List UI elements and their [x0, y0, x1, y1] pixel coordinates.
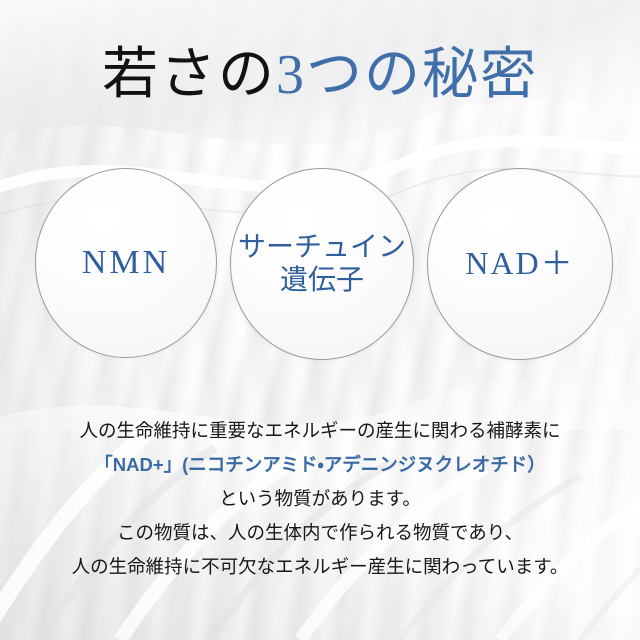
circle-nad-plus-label: NAD＋ [465, 245, 574, 283]
description-block: 人の生命維持に重要なエネルギーの産生に関わる補酵素に 「NAD+」(ニコチンアミ… [0, 414, 640, 584]
promo-banner: 若さの3つの秘密 NMN サーチュイン 遺伝子 NAD＋ 人の生命維持に重要なエ… [0, 0, 640, 640]
circle-sirtuin[interactable]: サーチュイン 遺伝子 [230, 168, 414, 360]
description-line-4: この物質は、人の生体内で作られる物質であり、 [0, 516, 640, 550]
description-line-3: という物質があります。 [0, 482, 640, 516]
description-line-5: 人の生命維持に不可欠なエネルギー産生に関わっています。 [0, 550, 640, 584]
description-line-2: 「NAD+」(ニコチンアミド・アデニンジヌクレオチド） [0, 448, 640, 482]
page-title: 若さの3つの秘密 [0, 46, 640, 105]
circle-sirtuin-label: サーチュイン 遺伝子 [238, 231, 406, 297]
key-terms-circle-row: NMN サーチュイン 遺伝子 NAD＋ [0, 168, 640, 364]
circle-nmn-label: NMN [82, 243, 170, 283]
title-blue-part: 3つの秘密 [276, 44, 538, 106]
title-dark-part: 若さの [102, 44, 276, 106]
description-line-1: 人の生命維持に重要なエネルギーの産生に関わる補酵素に [0, 414, 640, 448]
circle-nad-plus[interactable]: NAD＋ [427, 168, 613, 360]
circle-nmn[interactable]: NMN [35, 168, 217, 358]
